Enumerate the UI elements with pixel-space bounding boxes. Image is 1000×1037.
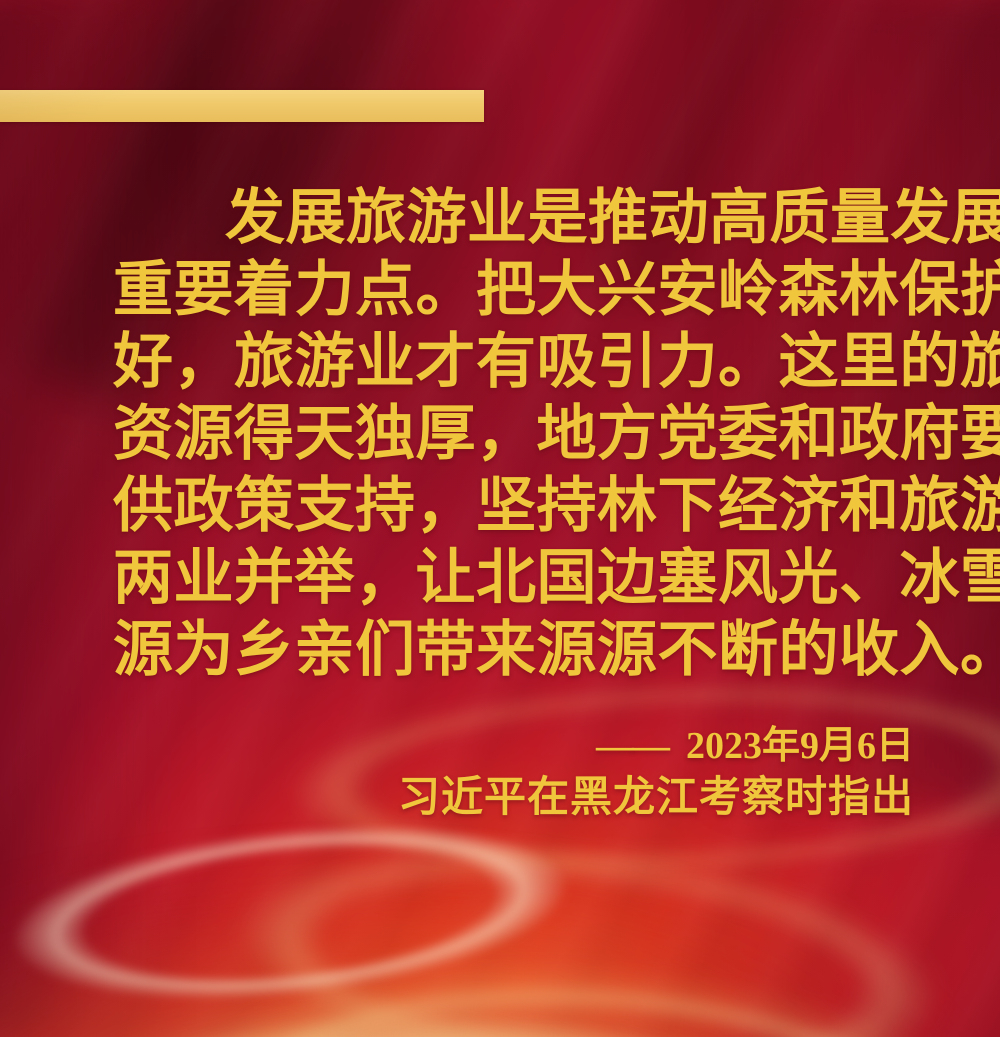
background-warm-glow bbox=[0, 830, 1000, 1037]
attribution-date-line: ——2023年9月6日 bbox=[294, 722, 914, 770]
quote-line: 两业并举，让北国边塞风光、冰雪资 bbox=[113, 542, 918, 614]
attribution-source: 习近平在黑龙江考察时指出 bbox=[294, 770, 914, 826]
quote-line: 资源得天独厚，地方党委和政府要提 bbox=[113, 398, 918, 470]
attribution-date: 2023年9月6日 bbox=[686, 725, 914, 767]
quote-poster: 发展旅游业是推动高质量发展的 重要着力点。把大兴安岭森林保护 好，旅游业才有吸引… bbox=[0, 0, 1000, 1037]
quote-line: 重要着力点。把大兴安岭森林保护 bbox=[113, 254, 918, 326]
quote-line: 源为乡亲们带来源源不断的收入。 bbox=[113, 614, 918, 686]
attribution-dash: —— bbox=[596, 725, 668, 767]
quote-line: 供政策支持，坚持林下经济和旅游业 bbox=[113, 470, 918, 542]
gold-accent-bar bbox=[0, 90, 484, 122]
quote-line: 发展旅游业是推动高质量发展的 bbox=[113, 182, 918, 254]
quote-line: 好，旅游业才有吸引力。这里的旅游 bbox=[113, 326, 918, 398]
quote-text-block: 发展旅游业是推动高质量发展的 重要着力点。把大兴安岭森林保护 好，旅游业才有吸引… bbox=[113, 182, 918, 686]
attribution-block: ——2023年9月6日 习近平在黑龙江考察时指出 bbox=[294, 722, 914, 826]
